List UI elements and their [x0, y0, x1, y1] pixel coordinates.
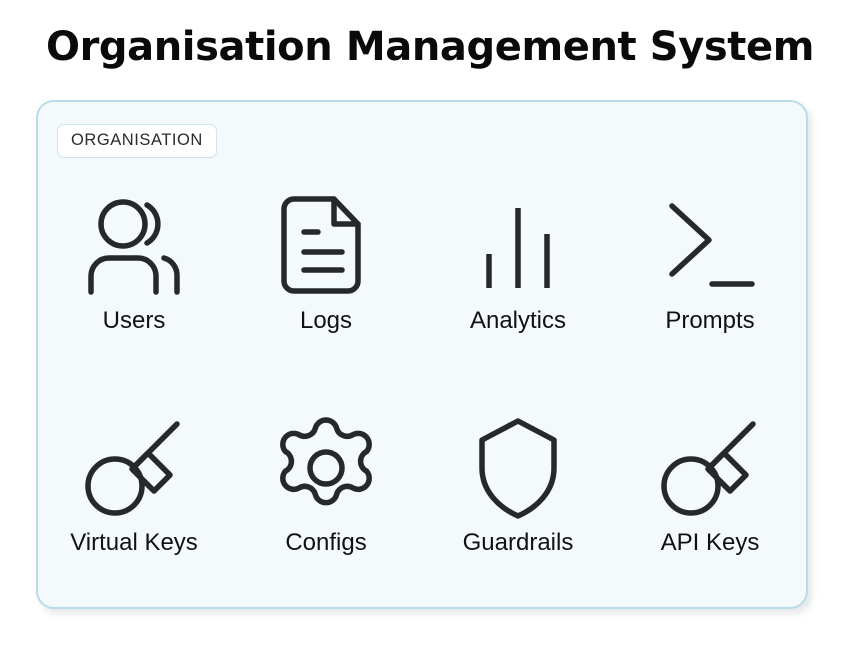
key-icon: [658, 416, 762, 520]
tile-api-keys[interactable]: API Keys: [614, 416, 806, 568]
users-icon: [82, 194, 186, 298]
tile-users[interactable]: Users: [38, 194, 230, 346]
page-title: Organisation Management System: [0, 20, 860, 74]
shield-icon: [474, 416, 562, 520]
tile-configs[interactable]: Configs: [230, 416, 422, 568]
tile-label: Analytics: [470, 306, 566, 336]
tile-logs[interactable]: Logs: [230, 194, 422, 346]
tile-label: Configs: [285, 528, 366, 558]
tile-virtual-keys[interactable]: Virtual Keys: [38, 416, 230, 568]
feature-grid: Users Logs: [38, 194, 806, 568]
tile-prompts[interactable]: Prompts: [614, 194, 806, 346]
organisation-card: ORGANISATION Users: [36, 100, 808, 609]
tile-label: Prompts: [665, 306, 754, 336]
document-icon: [280, 194, 372, 298]
key-icon: [82, 416, 186, 520]
tile-label: Logs: [300, 306, 352, 336]
terminal-prompt-icon: [662, 194, 758, 298]
page-root: Organisation Management System ORGANISAT…: [0, 0, 860, 661]
bar-chart-icon: [478, 194, 558, 298]
tile-label: Guardrails: [463, 528, 574, 558]
tile-analytics[interactable]: Analytics: [422, 194, 614, 346]
tile-guardrails[interactable]: Guardrails: [422, 416, 614, 568]
tile-label: API Keys: [661, 528, 760, 558]
organisation-badge: ORGANISATION: [57, 124, 217, 158]
tile-label: Virtual Keys: [70, 528, 198, 558]
tile-label: Users: [103, 306, 166, 336]
gear-icon: [274, 416, 378, 520]
